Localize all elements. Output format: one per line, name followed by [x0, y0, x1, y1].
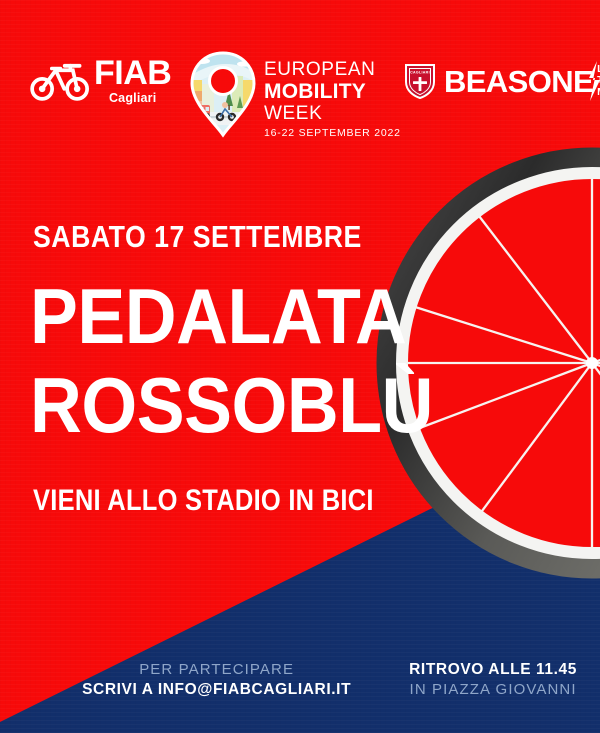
- footer-participation-label: PER PARTECIPARE: [82, 660, 351, 680]
- map-pin-illustration-icon: [188, 50, 258, 138]
- beasone-wordmark: BEASONE: [444, 66, 593, 97]
- title-line-1: PEDALATA: [30, 272, 433, 361]
- emw-line-1: EUROPEAN: [264, 59, 401, 80]
- bicycle-icon: [30, 60, 90, 102]
- fiab-wordmark: FIAB: [94, 54, 171, 92]
- lightning-bolt-icon: [588, 61, 600, 101]
- svg-text:CAGLIARI: CAGLIARI: [410, 71, 430, 75]
- event-date: SABATO 17 SETTEMBRE: [33, 219, 362, 255]
- cagliari-calcio-shield-icon: CAGLIARI: [404, 62, 436, 100]
- european-mobility-week-logo: EUROPEAN MOBILITY WEEK 16-22 SEPTEMBER 2…: [188, 50, 401, 139]
- title-line-2: ROSSOBLÙ: [30, 361, 433, 450]
- poster-title: PEDALATA ROSSOBLÙ: [30, 272, 433, 450]
- poster-canvas: FIAB Cagliari: [0, 0, 600, 733]
- poster-footer: PER PARTECIPARE SCRIVI A INFO@FIABCAGLIA…: [0, 660, 600, 700]
- footer-participation-block: PER PARTECIPARE SCRIVI A INFO@FIABCAGLIA…: [82, 660, 351, 700]
- footer-meeting-place: IN PIAZZA GIOVANNI: [409, 680, 577, 700]
- emw-dates: 16-22 SEPTEMBER 2022: [264, 127, 401, 139]
- beasone-logo: CAGLIARI BEASONE: [404, 62, 600, 100]
- emw-line-2: MOBILITY: [264, 80, 401, 103]
- footer-email-value: SCRIVI A INFO@FIABCAGLIARI.IT: [82, 680, 351, 700]
- fiab-city-label: Cagliari: [94, 91, 171, 105]
- footer-meeting-block: RITROVO ALLE 11.45 IN PIAZZA GIOVANNI: [409, 660, 577, 700]
- poster-subtitle: VIENI ALLO STADIO IN BICI: [33, 484, 374, 518]
- sponsor-logo-row: FIAB Cagliari: [0, 50, 600, 145]
- footer-meeting-time: RITROVO ALLE 11.45: [409, 660, 577, 680]
- fiab-logo: FIAB Cagliari: [30, 56, 171, 105]
- beasone-tagline: LOVE THINK MOVE: [589, 64, 600, 98]
- emw-line-3: WEEK: [264, 103, 401, 124]
